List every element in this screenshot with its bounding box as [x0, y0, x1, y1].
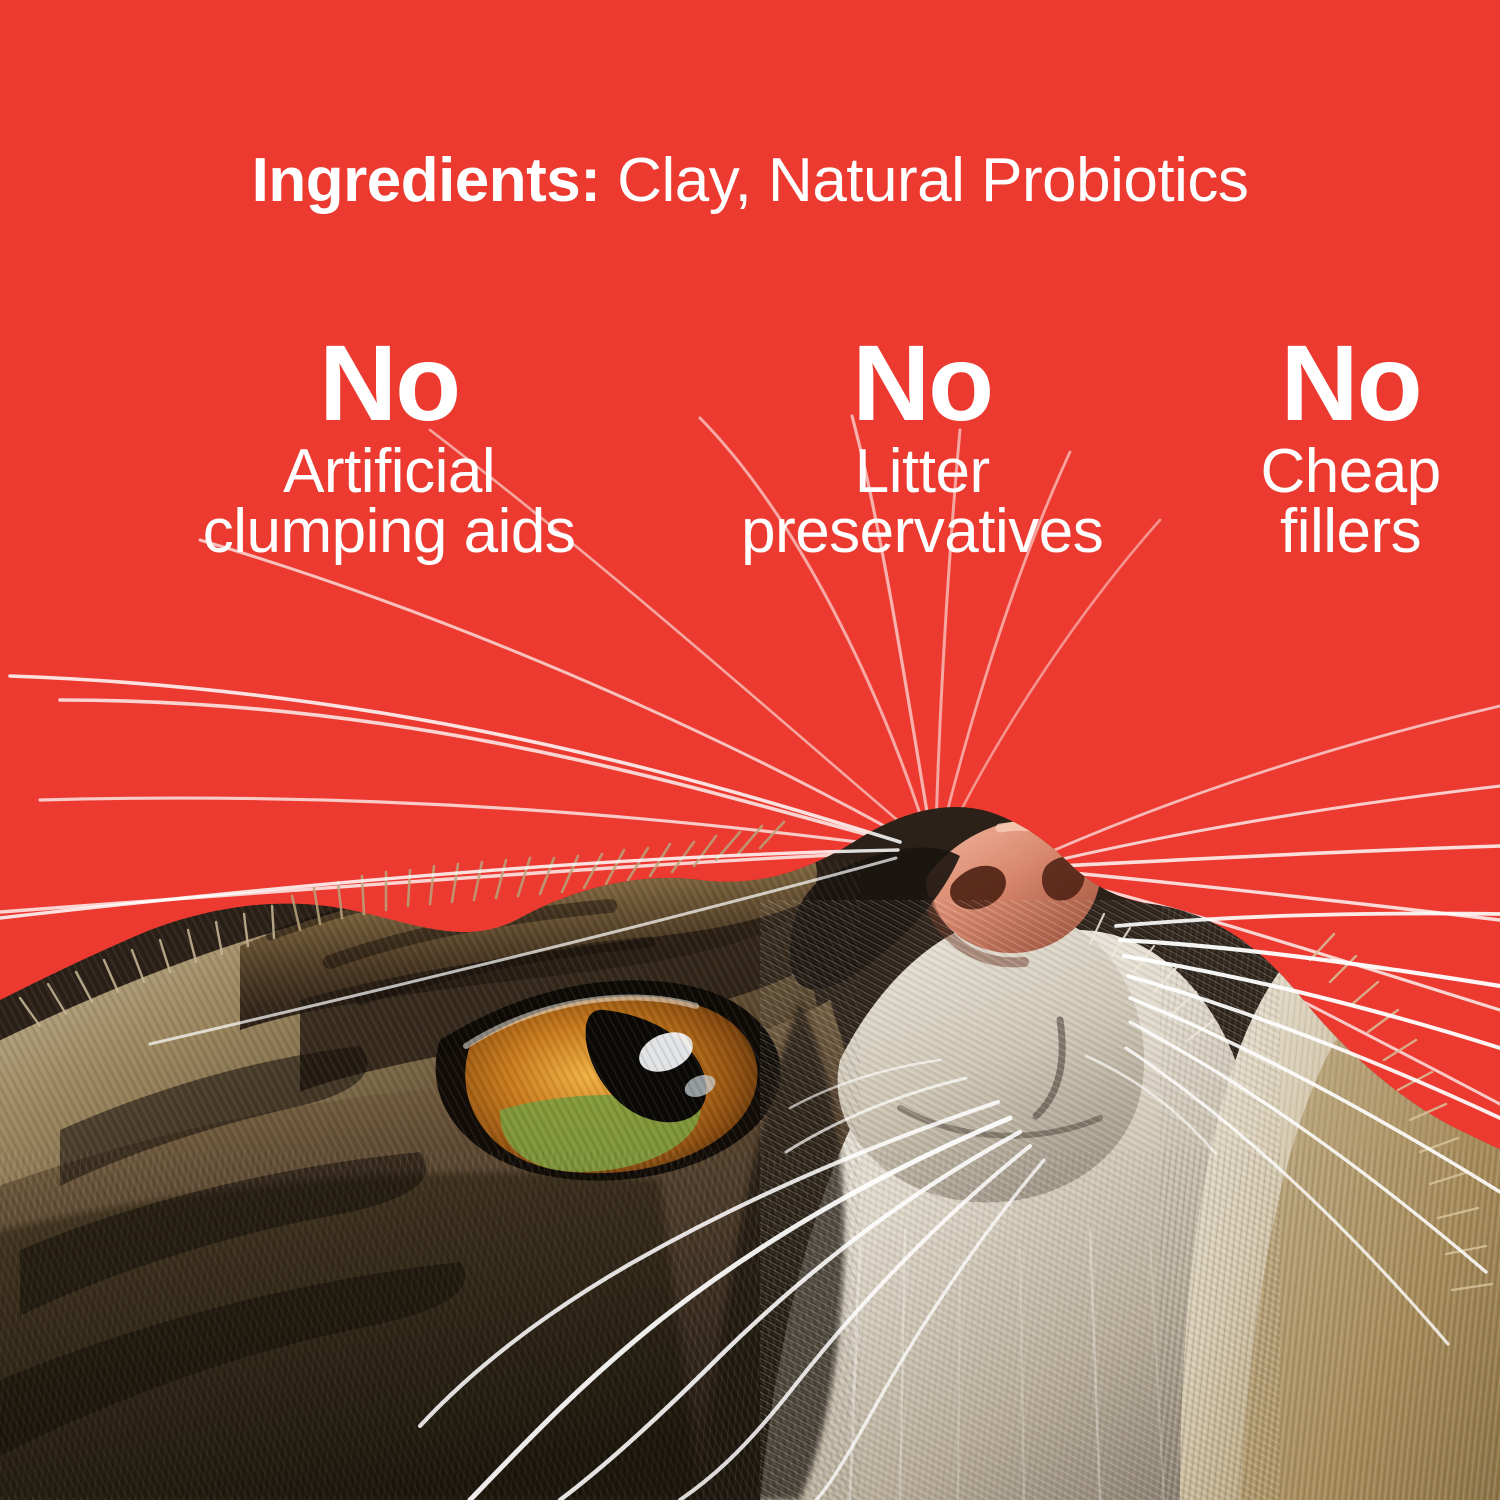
product-info-panel: Ingredients: Clay, Natural Probiotics No…: [0, 0, 1500, 1500]
claim-cheap-fillers: No Cheap fillers: [1201, 330, 1500, 562]
ingredients-label: Ingredients:: [252, 146, 601, 215]
claim-2-label: Litter preservatives: [673, 442, 1171, 562]
claim-1-no: No: [155, 330, 623, 436]
claims-row: No Artificial clumping aids No Litter pr…: [0, 330, 1500, 670]
claim-1-label: Artificial clumping aids: [155, 442, 623, 562]
ingredients-value: Clay, Natural Probiotics: [600, 146, 1248, 215]
claim-artificial-clumping-aids: No Artificial clumping aids: [155, 330, 623, 562]
ingredients-headline: Ingredients: Clay, Natural Probiotics: [0, 148, 1500, 213]
claim-3-label: Cheap fillers: [1201, 442, 1500, 562]
claim-3-no: No: [1201, 330, 1500, 436]
cat-photo: [0, 0, 1500, 1500]
claim-litter-preservatives: No Litter preservatives: [673, 330, 1171, 562]
claim-2-no: No: [673, 330, 1171, 436]
